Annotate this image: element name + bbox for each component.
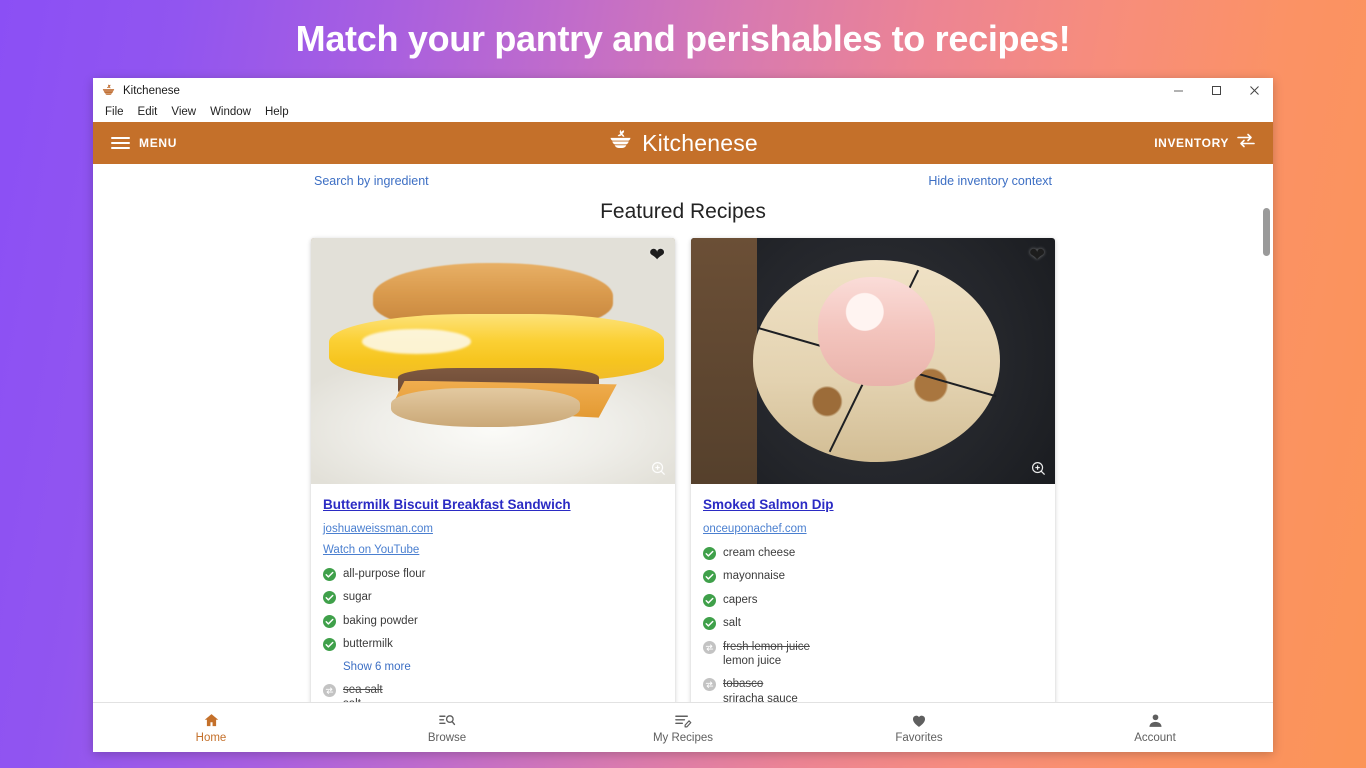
ingredient-name: cream cheese	[723, 546, 795, 560]
list-edit-icon	[674, 712, 692, 729]
utility-row: Search by ingredient Hide inventory cont…	[109, 164, 1257, 188]
ingredient-substitution: fresh lemon juice lemon juice	[723, 640, 810, 669]
menu-file[interactable]: File	[98, 103, 131, 122]
show-more-link[interactable]: Show 6 more	[343, 661, 663, 673]
promo-banner: Match your pantry and perishables to rec…	[0, 0, 1366, 78]
nav-item-home[interactable]: Home	[93, 703, 329, 752]
swap-circle-icon	[323, 684, 336, 697]
home-icon	[203, 712, 220, 729]
app-window: Kitchenese File Edit View Window Help ME…	[93, 78, 1273, 752]
ingredient-list: all-purpose flour sugar	[323, 567, 663, 702]
ingredient-item: cream cheese	[703, 546, 1043, 560]
nav-label: Favorites	[895, 732, 942, 744]
brand-name: Kitchenese	[642, 130, 758, 157]
brand: Kitchenese	[93, 128, 1273, 158]
check-circle-icon	[323, 568, 336, 581]
ingredient-item: capers	[703, 593, 1043, 607]
banner-title: Match your pantry and perishables to rec…	[296, 18, 1071, 60]
ingredient-item: mayonnaise	[703, 569, 1043, 583]
check-circle-icon	[703, 570, 716, 583]
hide-inventory-context-link[interactable]: Hide inventory context	[928, 174, 1052, 188]
ingredient-substitution-item: tobasco sriracha sauce	[703, 677, 1043, 702]
close-icon[interactable]	[1235, 78, 1273, 103]
watch-on-youtube-link[interactable]: Watch on YouTube	[323, 544, 663, 556]
ingredient-name: sugar	[343, 590, 372, 604]
window-controls	[1159, 78, 1273, 103]
ingredient-name: salt	[723, 616, 741, 630]
recipe-source-link[interactable]: onceuponachef.com	[703, 523, 1043, 535]
window-titlebar[interactable]: Kitchenese	[93, 78, 1273, 103]
swap-circle-icon	[703, 678, 716, 691]
ingredient-substitution-item: sea salt salt	[323, 683, 663, 703]
nav-label: Home	[196, 732, 227, 744]
original-ingredient: sea salt	[343, 683, 383, 697]
recipe-source-link[interactable]: joshuaweissman.com	[323, 523, 663, 535]
menu-button[interactable]: MENU	[111, 136, 177, 150]
ingredient-name: all-purpose flour	[343, 567, 425, 581]
nav-item-favorites[interactable]: Favorites	[801, 703, 1037, 752]
original-ingredient: fresh lemon juice	[723, 640, 810, 654]
menu-edit[interactable]: Edit	[131, 103, 165, 122]
ingredient-name: capers	[723, 593, 758, 607]
ingredient-substitution-item: fresh lemon juice lemon juice	[703, 640, 1043, 669]
replacement-ingredient: lemon juice	[723, 654, 810, 668]
replacement-ingredient: sriracha sauce	[723, 692, 798, 702]
ingredient-name: baking powder	[343, 614, 418, 628]
inventory-button[interactable]: INVENTORY	[1154, 133, 1255, 153]
nav-label: Account	[1134, 732, 1176, 744]
recipe-card[interactable]: ❤ Smoked Salmon Dip onceuponac	[691, 238, 1055, 702]
recipe-image[interactable]: ❤	[691, 238, 1055, 484]
search-list-icon	[438, 712, 456, 729]
swap-arrows-icon	[1237, 133, 1255, 153]
check-circle-icon	[323, 638, 336, 651]
heart-icon[interactable]: ❤	[649, 246, 665, 265]
maximize-icon[interactable]	[1197, 78, 1235, 103]
recipe-image[interactable]: ❤	[311, 238, 675, 484]
check-circle-icon	[703, 617, 716, 630]
search-by-ingredient-link[interactable]: Search by ingredient	[314, 174, 429, 188]
ingredient-item: sugar	[323, 590, 663, 604]
ingredient-substitution: sea salt salt	[343, 683, 383, 703]
scrollbar-thumb[interactable]	[1263, 208, 1270, 256]
check-circle-icon	[323, 591, 336, 604]
nav-item-account[interactable]: Account	[1037, 703, 1273, 752]
inventory-button-label: INVENTORY	[1154, 136, 1229, 150]
ingredient-item: baking powder	[323, 614, 663, 628]
recipe-photo-biscuit-sandwich	[311, 238, 675, 484]
person-icon	[1147, 712, 1164, 729]
vertical-scrollbar[interactable]	[1262, 208, 1271, 702]
original-ingredient: tobasco	[723, 677, 798, 691]
menu-button-label: MENU	[139, 136, 177, 150]
hamburger-icon	[111, 137, 130, 149]
minimize-icon[interactable]	[1159, 78, 1197, 103]
app-header: MENU Kitchenese INVENTORY	[93, 122, 1273, 164]
bowl-sprout-icon	[608, 128, 633, 158]
ingredient-item: all-purpose flour	[323, 567, 663, 581]
heart-icon	[910, 712, 928, 729]
check-circle-icon	[323, 615, 336, 628]
bowl-sprout-icon	[101, 83, 116, 98]
ingredient-list: cream cheese mayonnaise	[703, 546, 1043, 702]
bottom-navigation: Home Browse My Recipes	[93, 702, 1273, 752]
recipe-card-body: Smoked Salmon Dip onceuponachef.com crea…	[691, 484, 1055, 702]
recipe-title-link[interactable]: Smoked Salmon Dip	[703, 497, 834, 512]
recipe-photo-smoked-salmon-dip	[691, 238, 1055, 484]
check-circle-icon	[703, 594, 716, 607]
ingredient-name: buttermilk	[343, 637, 393, 651]
ingredient-item: salt	[703, 616, 1043, 630]
check-circle-icon	[703, 547, 716, 560]
content-area: Search by ingredient Hide inventory cont…	[93, 164, 1273, 702]
heart-icon[interactable]: ❤	[1029, 246, 1045, 265]
scroll-content: Search by ingredient Hide inventory cont…	[93, 164, 1273, 702]
menu-view[interactable]: View	[164, 103, 203, 122]
swap-circle-icon	[703, 641, 716, 654]
menu-help[interactable]: Help	[258, 103, 296, 122]
ingredient-substitution: tobasco sriracha sauce	[723, 677, 798, 702]
menu-window[interactable]: Window	[203, 103, 258, 122]
nav-label: Browse	[428, 732, 466, 744]
page-title: Featured Recipes	[109, 200, 1257, 224]
window-title: Kitchenese	[123, 85, 1159, 97]
ingredient-item: buttermilk	[323, 637, 663, 651]
ingredient-name: mayonnaise	[723, 569, 785, 583]
recipe-card-list: ❤ Buttermilk Biscuit Breakfast Sandwich	[109, 238, 1257, 702]
zoom-in-icon[interactable]	[1031, 461, 1046, 476]
nav-item-browse[interactable]: Browse	[329, 703, 565, 752]
replacement-ingredient: salt	[343, 697, 383, 702]
nav-label: My Recipes	[653, 732, 713, 744]
menubar: File Edit View Window Help	[93, 103, 1273, 122]
recipe-title-link[interactable]: Buttermilk Biscuit Breakfast Sandwich	[323, 497, 571, 512]
recipe-card-body: Buttermilk Biscuit Breakfast Sandwich jo…	[311, 484, 675, 702]
recipe-card[interactable]: ❤ Buttermilk Biscuit Breakfast Sandwich	[311, 238, 675, 702]
zoom-in-icon[interactable]	[651, 461, 666, 476]
nav-item-my-recipes[interactable]: My Recipes	[565, 703, 801, 752]
